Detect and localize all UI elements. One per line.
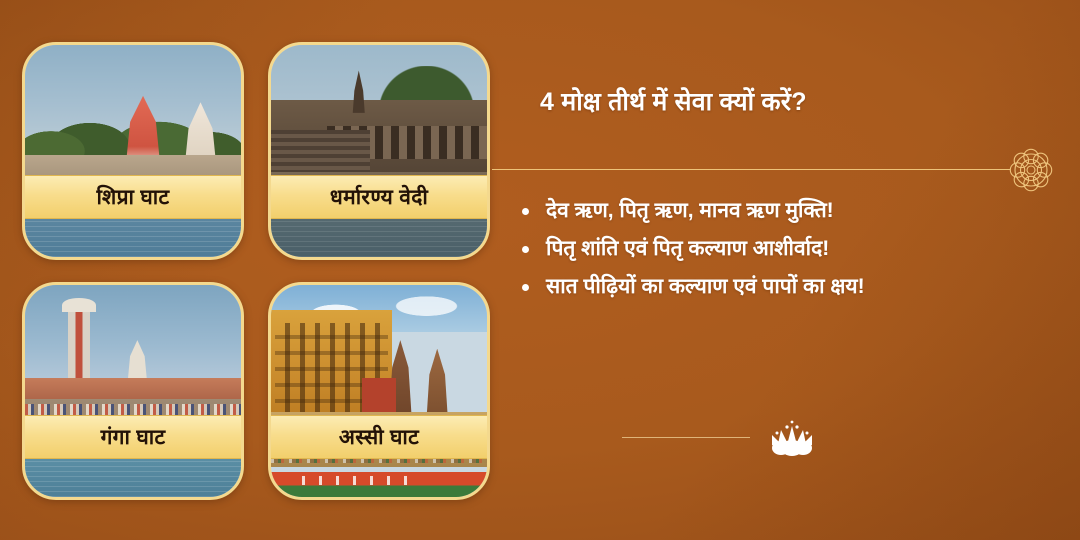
- lotus-divider: [622, 418, 962, 458]
- benefits-list: देव ऋण, पितृ ऋण, मानव ऋण मुक्ति! पितृ शा…: [514, 200, 1074, 314]
- divider-line: [492, 169, 1010, 170]
- content-panel: 4 मोक्ष तीर्थ में सेवा क्यों करें?: [492, 0, 1080, 540]
- gallery-card-caption: शिप्रा घाट: [25, 175, 241, 219]
- gallery-card-caption: गंगा घाट: [25, 415, 241, 459]
- gallery-card-shipra-ghat[interactable]: शिप्रा घाट: [22, 42, 244, 260]
- page-title: 4 मोक्ष तीर्थ में सेवा क्यों करें?: [540, 84, 807, 118]
- slide-canvas: शिप्रा घाट धर्मारण्य वेदी: [0, 0, 1080, 540]
- gallery-card-assi-ghat[interactable]: अस्सी घाट: [268, 282, 490, 500]
- photo-gallery-grid: शिप्रा घाट धर्मारण्य वेदी: [22, 42, 492, 502]
- gallery-card-caption-label: अस्सी घाट: [339, 427, 419, 448]
- gallery-card-caption-label: धर्मारण्य वेदी: [330, 187, 428, 208]
- gallery-card-caption: धर्मारण्य वेदी: [271, 175, 487, 219]
- divider-line-left: [622, 437, 750, 438]
- gallery-card-caption-label: गंगा घाट: [101, 427, 166, 448]
- photo-ganga-ghat: [25, 285, 241, 497]
- lotus-flower-icon: [765, 418, 819, 458]
- photo-assi-ghat: [271, 285, 487, 497]
- gallery-card-caption-label: शिप्रा घाट: [97, 187, 170, 208]
- photo-dharmaranya-vedi: [271, 45, 487, 257]
- gallery-card-caption: अस्सी घाट: [271, 415, 487, 459]
- gallery-card-ganga-ghat[interactable]: गंगा घाट: [22, 282, 244, 500]
- mandala-rosette-icon: [1005, 144, 1057, 196]
- list-item: सात पीढ़ियों का कल्याण एवं पापों का क्षय…: [514, 276, 1074, 297]
- photo-shipra-ghat: [25, 45, 241, 257]
- list-item: पितृ शांति एवं पितृ कल्याण आशीर्वाद!: [514, 238, 1074, 259]
- list-item: देव ऋण, पितृ ऋण, मानव ऋण मुक्ति!: [514, 200, 1074, 221]
- gallery-card-dharmaranya-vedi[interactable]: धर्मारण्य वेदी: [268, 42, 490, 260]
- photo-temple-spire: [422, 349, 452, 421]
- photo-boat: [271, 472, 487, 497]
